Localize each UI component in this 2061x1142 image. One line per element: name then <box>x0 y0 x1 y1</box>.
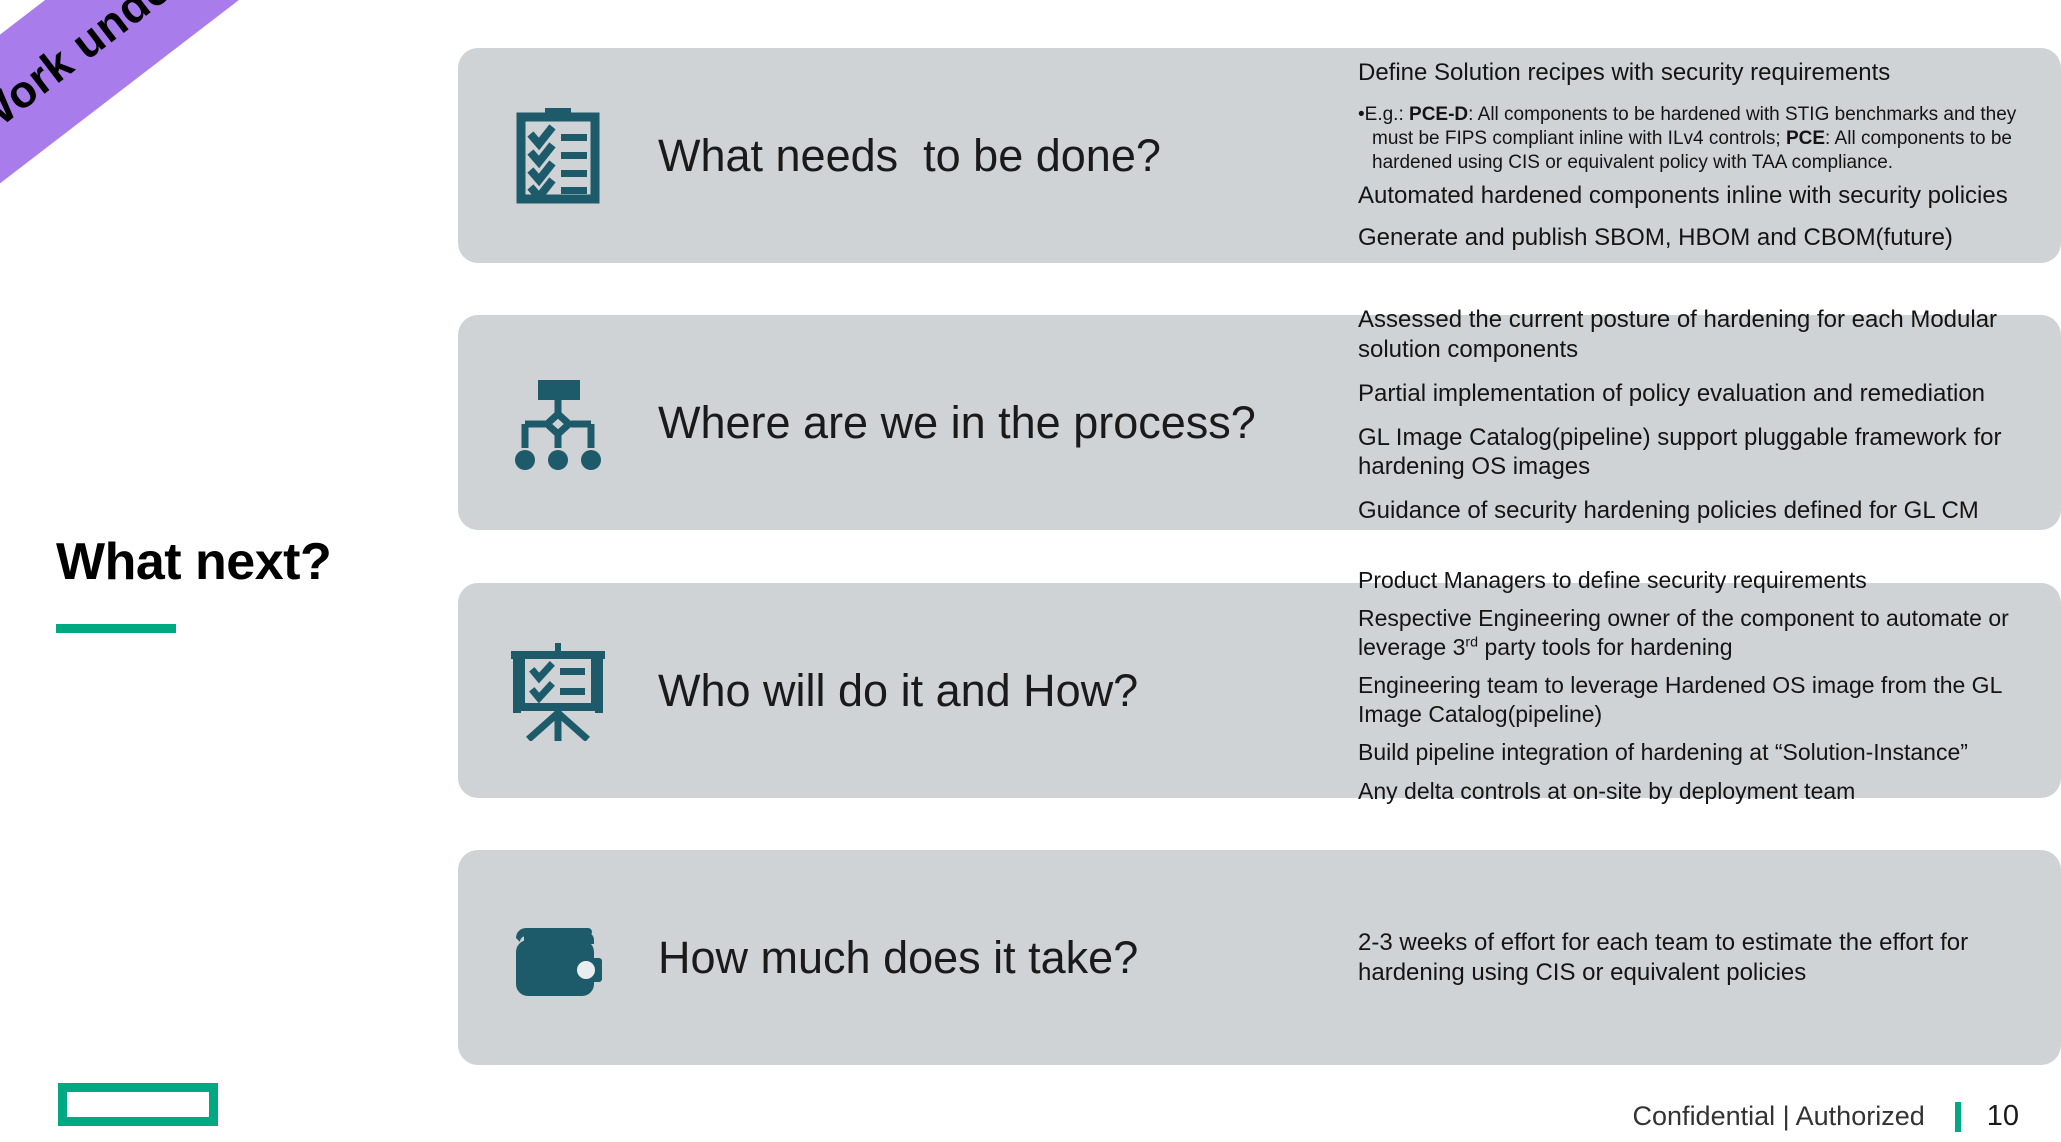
page-title: What next? <box>56 535 386 590</box>
bullet-dot: • <box>1358 104 1365 125</box>
card-where-are-we-in-the-process[interactable]: Where are we in the process? Assessed th… <box>458 315 2061 530</box>
bullet-seg-bold: PCE-D <box>1409 104 1468 125</box>
left-title-block: What next? <box>56 535 386 633</box>
bullet-seg: E.g.: <box>1365 104 1409 125</box>
bullet-seg: party tools for hardening <box>1478 634 1732 660</box>
card-what-needs-to-be-done[interactable]: What needs to be done? Define Solution r… <box>458 48 2061 263</box>
title-accent-rule <box>56 624 176 633</box>
bullet-seg-sup: rd <box>1465 634 1478 650</box>
work-under-progress-label: Work under Progress <box>0 0 363 147</box>
footer-confidentiality-label: Confidential | Authorized <box>1633 1101 1925 1132</box>
hierarchy-org-chart-icon <box>458 376 658 470</box>
wallet-icon <box>458 918 658 998</box>
checklist-clipboard-icon <box>458 108 658 204</box>
bullet-item: Engineering team to leverage Hardened OS… <box>1358 671 2039 728</box>
bullet-item-example: •E.g.: PCE-D: All components to be harde… <box>1358 103 2039 174</box>
presentation-board-icon <box>458 641 658 741</box>
card-heading: Where are we in the process? <box>658 397 1358 449</box>
bullet-item: Define Solution recipes with security re… <box>1358 58 2039 88</box>
bullet-item: Build pipeline integration of hardening … <box>1358 738 2039 767</box>
bullet-seg-bold: PCE <box>1786 128 1825 149</box>
bullet-item: Guidance of security hardening policies … <box>1358 496 2039 526</box>
bullet-item: Partial implementation of policy evaluat… <box>1358 379 2039 409</box>
card-who-will-do-it-and-how[interactable]: Who will do it and How? Product Managers… <box>458 583 2061 798</box>
card-heading: What needs to be done? <box>658 130 1358 182</box>
bullet-item: GL Image Catalog(pipeline) support plugg… <box>1358 423 2039 483</box>
work-under-progress-banner: Work under Progress <box>0 0 420 202</box>
footer: Confidential | Authorized 10 <box>1633 1100 2019 1133</box>
cards-list: What needs to be done? Define Solution r… <box>458 0 2061 1142</box>
card-bullet-list: Assessed the current posture of hardenin… <box>1358 305 2061 540</box>
footer-page-number: 10 <box>1987 1100 2019 1133</box>
card-bullet-list: Define Solution recipes with security re… <box>1358 58 2061 253</box>
bullet-item: Generate and publish SBOM, HBOM and CBOM… <box>1358 223 2039 253</box>
footer-separator <box>1955 1102 1961 1132</box>
bullet-item-superscript: Respective Engineering owner of the comp… <box>1358 604 2039 661</box>
card-heading: How much does it take? <box>658 932 1358 984</box>
bullet-item: 2-3 weeks of effort for each team to est… <box>1358 928 2039 988</box>
card-bullet-list: Product Managers to define security requ… <box>1358 566 2061 816</box>
bullet-item: Any delta controls at on-site by deploym… <box>1358 777 2039 806</box>
card-bullet-list: 2-3 weeks of effort for each team to est… <box>1358 928 2061 988</box>
card-how-much-does-it-take[interactable]: How much does it take? 2-3 weeks of effo… <box>458 850 2061 1065</box>
hpe-logo <box>58 1083 218 1126</box>
slide-canvas: What next? <box>0 0 2061 1142</box>
card-heading: Who will do it and How? <box>658 665 1358 717</box>
bullet-item: Assessed the current posture of hardenin… <box>1358 305 2039 365</box>
bullet-item: Automated hardened components inline wit… <box>1358 181 2039 211</box>
bullet-item: Product Managers to define security requ… <box>1358 566 2039 595</box>
